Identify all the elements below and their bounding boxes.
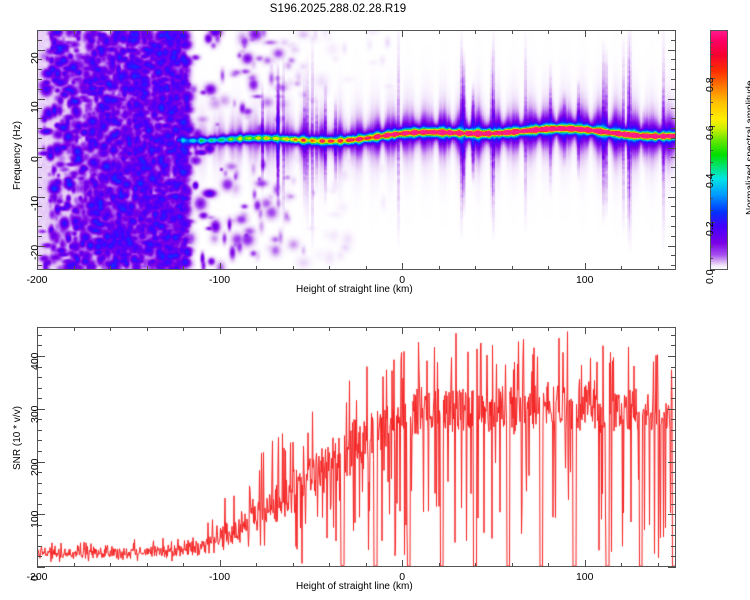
x-tick-minor [621,563,622,567]
y-tick-minor [37,265,42,266]
y-tick-label: 10 [29,101,41,113]
x-tick-minor [512,266,513,270]
y-tick-label: 0 [29,575,41,581]
x-tick-minor-top [329,30,330,34]
colorbar-tick-minor [710,54,713,55]
spectrogram-xlabel: Height of straight line (km) [296,284,413,295]
colorbar-tick-minor [710,114,713,115]
y-tick-minor [37,108,42,109]
y-tick-major-right [668,409,676,410]
y-tick-minor [37,167,42,168]
y-tick-minor-right [671,504,676,505]
x-tick-minor-top [147,327,148,331]
x-tick-major [220,263,221,270]
y-tick-minor [37,483,42,484]
x-tick-label: 100 [573,274,597,286]
x-tick-minor [475,563,476,567]
x-tick-minor [183,266,184,270]
x-tick-minor [147,563,148,567]
page-title: S196.2025.288.02.28.R19 [0,3,676,15]
x-tick-minor [329,266,330,270]
colorbar-tick-minor [710,150,713,151]
colorbar-tick-label: 0.0 [704,269,716,284]
x-tick-minor-top [548,30,549,34]
y-tick-major-right [668,197,676,198]
x-tick-major-top [220,30,221,37]
y-tick-minor-right [671,167,676,168]
y-tick-minor [37,206,42,207]
x-tick-minor-top [512,30,513,34]
y-tick-minor [37,40,42,41]
x-tick-minor-top [293,327,294,331]
y-tick-minor-right [671,377,676,378]
y-tick-minor [37,216,42,217]
y-tick-minor-right [671,472,676,473]
y-tick-minor [37,138,42,139]
x-tick-minor [366,266,367,270]
x-tick-minor [256,563,257,567]
x-tick-minor [658,266,659,270]
x-tick-label: -200 [25,274,49,286]
y-tick-minor-right [671,128,676,129]
x-tick-major-top [585,30,586,37]
y-tick-minor [37,236,42,237]
x-tick-major-top [220,327,221,334]
y-tick-major [37,148,45,149]
x-tick-minor [621,266,622,270]
x-tick-minor [548,563,549,567]
y-tick-minor [37,535,42,536]
x-tick-minor [110,563,111,567]
y-tick-minor-right [671,483,676,484]
y-tick-minor-right [671,440,676,441]
y-tick-minor-right [671,216,676,217]
x-tick-label: -100 [208,274,232,286]
y-tick-major [37,50,45,51]
colorbar-tick-minor [710,162,713,163]
x-tick-minor [110,266,111,270]
x-tick-minor-top [621,30,622,34]
y-tick-minor [37,187,42,188]
y-tick-minor-right [671,69,676,70]
y-tick-major-right [668,148,676,149]
colorbar-tick-minor [710,246,713,247]
y-tick-minor-right [671,388,676,389]
y-tick-minor [37,377,42,378]
y-tick-major-right [668,99,676,100]
colorbar-tick-minor [710,234,713,235]
y-tick-label: -10 [29,195,41,210]
y-tick-minor [37,546,42,547]
x-tick-minor-top [293,30,294,34]
y-tick-minor-right [671,419,676,420]
y-tick-minor [37,367,42,368]
x-tick-minor [183,563,184,567]
figure-root: S196.2025.288.02.28.R19 -200-1000100-20-… [0,0,750,600]
y-tick-minor-right [671,255,676,256]
y-tick-major [37,567,45,568]
y-tick-minor-right [671,79,676,80]
y-tick-minor [37,388,42,389]
x-tick-minor-top [512,327,513,331]
y-tick-minor-right [671,493,676,494]
y-tick-major-right [668,462,676,463]
x-tick-major [37,560,38,567]
y-tick-minor [37,128,42,129]
y-tick-minor-right [671,108,676,109]
y-tick-major-right [668,567,676,568]
y-tick-minor-right [671,367,676,368]
x-tick-major [585,560,586,567]
colorbar-tick-minor [710,198,713,199]
x-tick-minor-top [439,30,440,34]
x-tick-minor-top [329,327,330,331]
y-tick-minor [37,69,42,70]
y-tick-minor-right [671,430,676,431]
x-tick-minor-top [147,30,148,34]
x-tick-minor [548,266,549,270]
colorbar-tick-minor [710,210,713,211]
snr-trace [38,328,675,566]
y-tick-minor [37,556,42,557]
x-tick-major-top [37,30,38,37]
y-tick-minor-right [671,265,676,266]
x-tick-minor-top [256,30,257,34]
y-tick-minor [37,30,42,31]
x-tick-major-top [402,327,403,334]
x-tick-major [37,263,38,270]
y-tick-minor-right [671,177,676,178]
y-tick-minor [37,59,42,60]
y-tick-major-right [668,50,676,51]
x-tick-major-top [37,327,38,334]
y-tick-minor [37,118,42,119]
x-tick-minor-top [256,327,257,331]
x-tick-minor [512,563,513,567]
x-tick-minor-top [74,327,75,331]
colorbar-tick-minor [710,90,713,91]
y-tick-minor-right [671,451,676,452]
y-tick-major-right [668,356,676,357]
y-tick-label: 20 [29,52,41,64]
colorbar-tick-minor [710,42,713,43]
x-tick-minor [329,563,330,567]
y-tick-minor [37,398,42,399]
x-tick-minor-top [366,30,367,34]
y-tick-minor-right [671,118,676,119]
x-tick-major [220,560,221,567]
y-tick-minor-right [671,59,676,60]
y-tick-minor [37,504,42,505]
x-tick-minor [256,266,257,270]
y-tick-minor-right [671,236,676,237]
y-tick-major [37,99,45,100]
x-tick-minor [439,563,440,567]
y-tick-label: -20 [29,244,41,259]
spectrogram-ylabel: Frequency (Hz) [12,121,23,190]
y-tick-minor [37,525,42,526]
x-tick-minor-top [183,30,184,34]
y-tick-minor-right [671,157,676,158]
x-tick-minor-top [475,327,476,331]
y-tick-major-right [668,246,676,247]
y-tick-minor [37,255,42,256]
y-tick-minor-right [671,206,676,207]
x-tick-major-top [585,327,586,334]
y-tick-minor [37,440,42,441]
y-tick-minor [37,89,42,90]
spectrogram-panel [37,30,676,270]
colorbar-tick-minor [710,66,713,67]
x-tick-minor [439,266,440,270]
x-tick-minor-top [366,327,367,331]
y-tick-minor [37,345,42,346]
y-tick-minor [37,335,42,336]
snr-ylabel: SNR (10 * v/v) [12,406,23,470]
y-tick-minor-right [671,138,676,139]
y-tick-minor-right [671,398,676,399]
x-tick-minor-top [110,327,111,331]
x-tick-major [585,263,586,270]
x-tick-minor [293,563,294,567]
x-tick-minor [74,266,75,270]
spectrogram-image [38,31,675,269]
y-tick-minor-right [671,345,676,346]
colorbar-tick-minor [710,138,713,139]
colorbar-tick-minor [710,186,713,187]
y-tick-minor-right [671,226,676,227]
snr-xlabel: Height of straight line (km) [296,581,413,592]
x-tick-minor-top [439,327,440,331]
y-tick-minor-right [671,40,676,41]
x-tick-minor-top [621,327,622,331]
y-tick-minor [37,177,42,178]
x-tick-minor-top [110,30,111,34]
x-tick-minor [147,266,148,270]
x-tick-major-top [402,30,403,37]
y-tick-minor-right [671,187,676,188]
y-tick-minor-right [671,30,676,31]
y-tick-minor-right [671,556,676,557]
x-tick-minor-top [658,30,659,34]
y-tick-minor-right [671,535,676,536]
colorbar-tick-minor [710,102,713,103]
y-tick-minor [37,79,42,80]
x-tick-minor-top [183,327,184,331]
y-tick-minor [37,430,42,431]
x-tick-minor [293,266,294,270]
y-tick-minor [37,472,42,473]
y-tick-major-right [668,514,676,515]
y-tick-minor [37,419,42,420]
x-tick-minor [475,266,476,270]
y-tick-minor-right [671,89,676,90]
x-tick-major [402,263,403,270]
y-tick-minor [37,226,42,227]
y-tick-minor [37,157,42,158]
x-tick-minor-top [74,30,75,34]
x-tick-label: 100 [573,571,597,583]
x-tick-minor [658,563,659,567]
y-tick-minor-right [671,525,676,526]
y-tick-minor-right [671,546,676,547]
x-tick-major [402,560,403,567]
y-tick-minor [37,493,42,494]
colorbar-tick-minor [710,258,713,259]
y-tick-minor-right [671,335,676,336]
x-tick-label: -100 [208,571,232,583]
y-tick-minor [37,451,42,452]
x-tick-minor-top [658,327,659,331]
x-tick-minor-top [475,30,476,34]
colorbar-label: Normalized spectral amplitude [745,80,750,215]
x-tick-minor [74,563,75,567]
x-tick-minor [366,563,367,567]
x-tick-minor-top [548,327,549,331]
snr-panel [37,327,676,567]
